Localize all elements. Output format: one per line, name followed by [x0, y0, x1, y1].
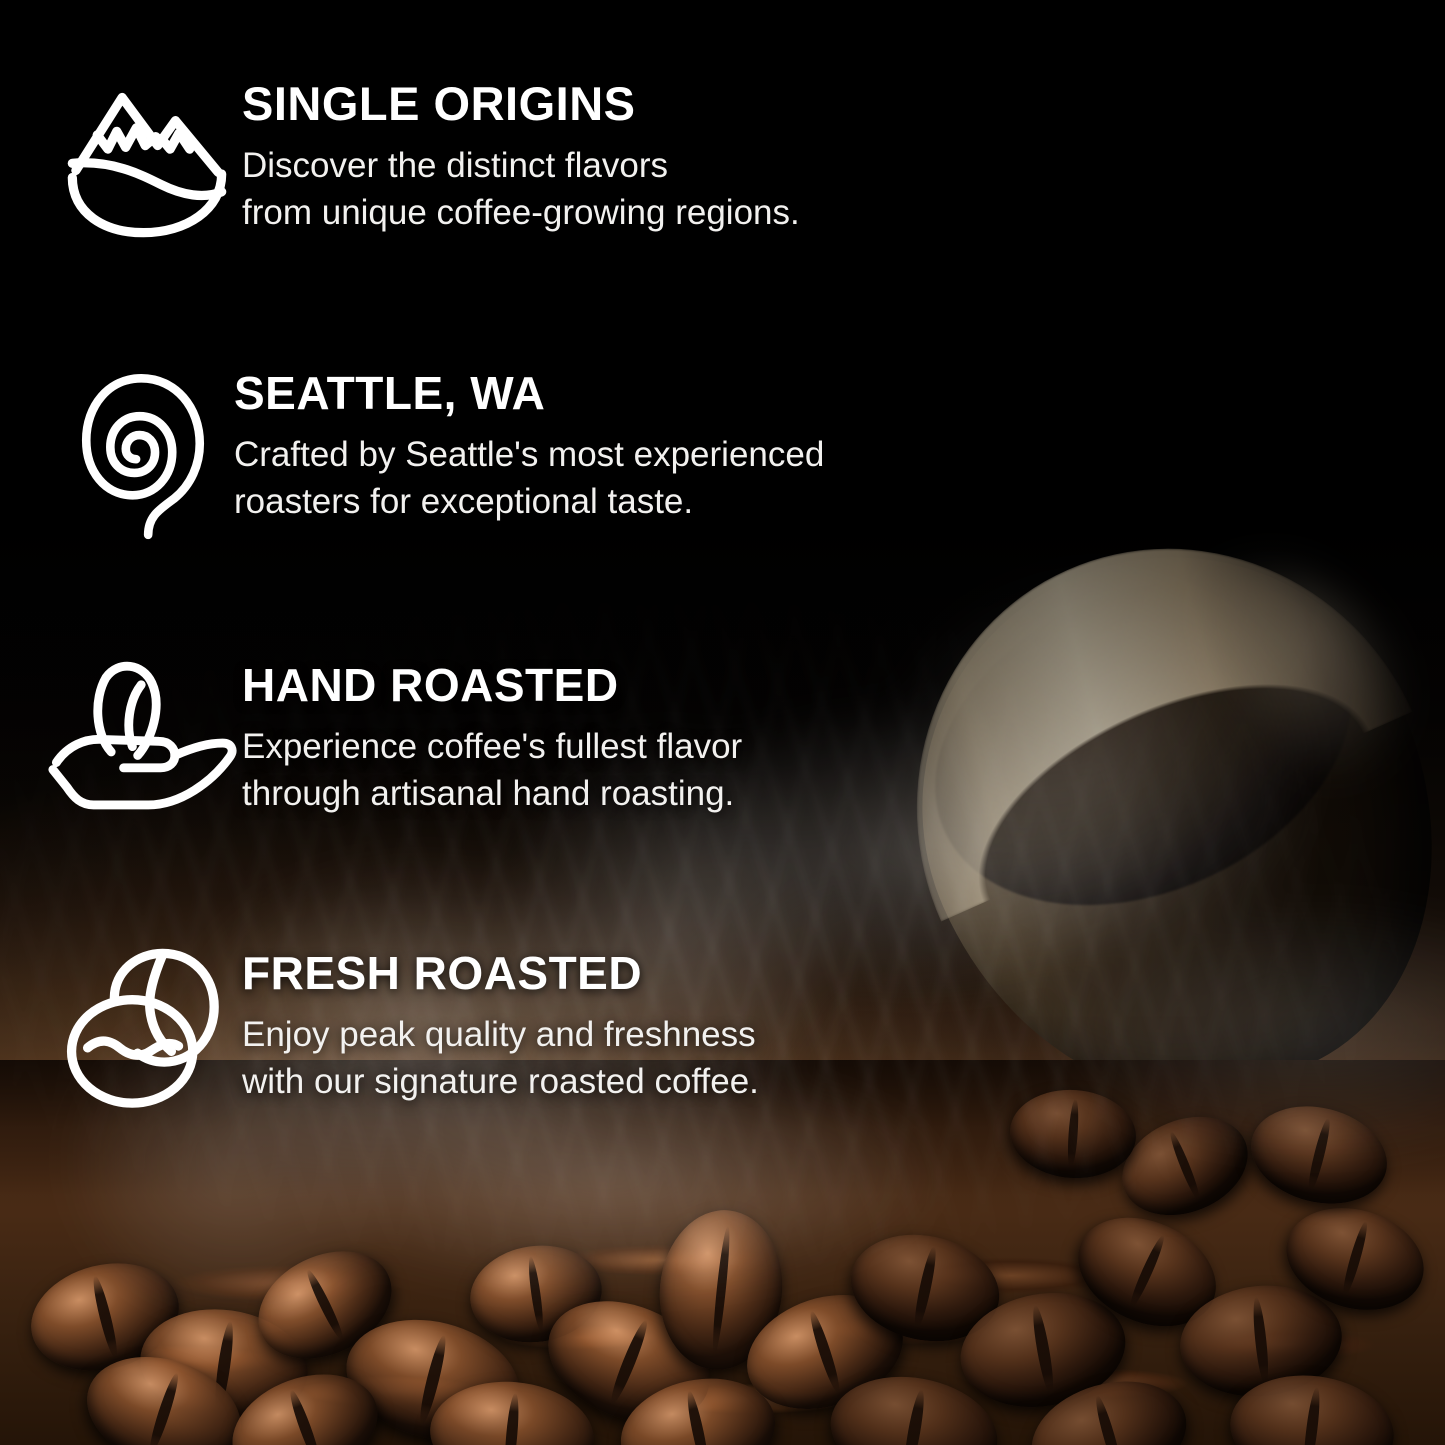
feature-title: SEATTLE, WA: [234, 370, 1062, 416]
feature-text-block: FRESH ROASTED Enjoy peak quality and fre…: [242, 948, 1068, 1105]
feature-description: Crafted by Seattle's most experienced ro…: [234, 432, 1062, 525]
mountain-coffee-bean-icon: [52, 78, 242, 238]
feature-text-block: SINGLE ORIGINS Discover the distinct fla…: [242, 78, 1062, 236]
hand-holding-bean-icon: [44, 660, 242, 812]
feature-title: FRESH ROASTED: [242, 950, 1068, 996]
feature-item-single-origins: SINGLE ORIGINS Discover the distinct fla…: [52, 78, 1062, 238]
feature-title: HAND ROASTED: [242, 662, 1054, 708]
feature-item-fresh-roasted: FRESH ROASTED Enjoy peak quality and fre…: [58, 948, 1068, 1112]
fingerprint-icon: [52, 368, 234, 540]
feature-title: SINGLE ORIGINS: [242, 80, 1062, 127]
feature-description: Enjoy peak quality and freshness with ou…: [242, 1012, 1068, 1105]
feature-item-seattle-wa: SEATTLE, WA Crafted by Seattle's most ex…: [52, 368, 1062, 540]
feature-description: Discover the distinct flavors from uniqu…: [242, 143, 1062, 236]
feature-item-hand-roasted: HAND ROASTED Experience coffee's fullest…: [44, 660, 1054, 817]
feature-list: SINGLE ORIGINS Discover the distinct fla…: [0, 0, 1445, 1445]
product-feature-banner: SINGLE ORIGINS Discover the distinct fla…: [0, 0, 1445, 1445]
feature-description: Experience coffee's fullest flavor throu…: [242, 724, 1054, 817]
two-coffee-beans-icon: [58, 948, 242, 1112]
feature-text-block: HAND ROASTED Experience coffee's fullest…: [242, 660, 1054, 817]
feature-text-block: SEATTLE, WA Crafted by Seattle's most ex…: [234, 368, 1062, 525]
